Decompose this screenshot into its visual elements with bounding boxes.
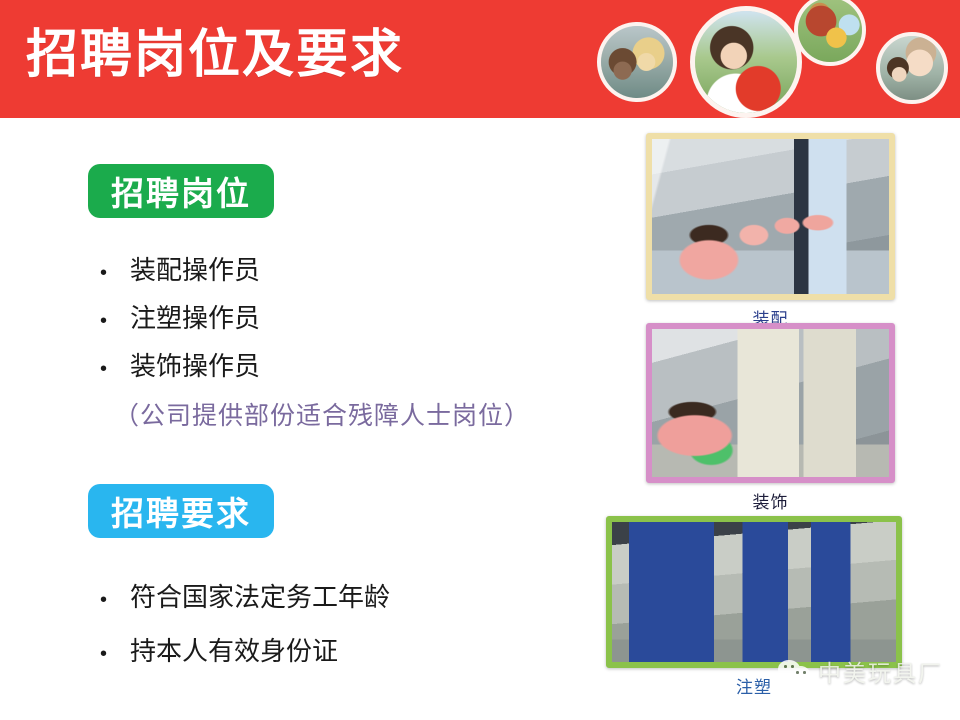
photo-card-assembly: 装配: [646, 133, 895, 330]
bullet-icon: •: [100, 627, 130, 681]
header-photo-bubble-child-outdoors: [794, 0, 866, 66]
requirements-list: • 符合国家法定务工年龄 • 持本人有效身份证: [100, 570, 390, 678]
positions-note: （公司提供部份适合残障人士岗位）: [114, 396, 530, 432]
wechat-icon: [778, 658, 812, 684]
photo-assembly-line-workers: [652, 139, 889, 294]
photo-injection-molding-machines: [612, 522, 896, 662]
bullet-icon: •: [100, 297, 130, 345]
watermark-label: 中美玩具厂: [818, 654, 943, 688]
list-item-label: 装饰操作员: [130, 342, 260, 390]
list-item: • 注塑操作员: [100, 294, 260, 342]
list-item: • 符合国家法定务工年龄: [100, 570, 390, 624]
list-item-label: 注塑操作员: [130, 294, 260, 342]
list-item: • 装配操作员: [100, 246, 260, 294]
photo-two-girls-smiling: [601, 26, 673, 98]
list-item-label: 装配操作员: [130, 246, 260, 294]
photo-frame-decoration: [646, 323, 895, 483]
slide-content: 招聘岗位 • 装配操作员 • 注塑操作员 • 装饰操作员 （公司提供部份适合残障…: [0, 118, 620, 720]
list-item-label: 符合国家法定务工年龄: [130, 570, 390, 624]
photo-girl-with-red-plush-toy: [695, 11, 797, 113]
page-title: 招聘岗位及要求: [26, 22, 404, 88]
photo-frame-assembly: [646, 133, 895, 300]
bullet-icon: •: [100, 249, 130, 297]
photo-column: 装配 装饰 注塑: [598, 118, 960, 720]
list-item: • 装饰操作员: [100, 342, 260, 390]
photo-frame-injection: [606, 516, 902, 668]
wechat-watermark: 中美玩具厂: [778, 654, 943, 688]
header-banner: 招聘岗位及要求: [0, 0, 960, 118]
photo-decoration-workshop-machines: [652, 329, 889, 477]
header-photo-bubble-girl-with-toy: [690, 6, 802, 118]
positions-list: • 装配操作员 • 注塑操作员 • 装饰操作员: [100, 246, 260, 390]
photo-card-decoration: 装饰: [646, 323, 895, 513]
photo-child-playing-outdoors: [798, 0, 862, 62]
list-item: • 持本人有效身份证: [100, 624, 390, 678]
photo-caption-decoration: 装饰: [646, 488, 895, 513]
list-item-label: 持本人有效身份证: [130, 624, 338, 678]
photo-adult-and-child: [880, 36, 944, 100]
header-photo-bubble-two-girls: [597, 22, 677, 102]
bullet-icon: •: [100, 345, 130, 393]
bullet-icon: •: [100, 573, 130, 627]
section-badge-requirements: 招聘要求: [88, 484, 274, 538]
header-photo-bubble-adult-and-child: [876, 32, 948, 104]
section-badge-positions: 招聘岗位: [88, 164, 274, 218]
